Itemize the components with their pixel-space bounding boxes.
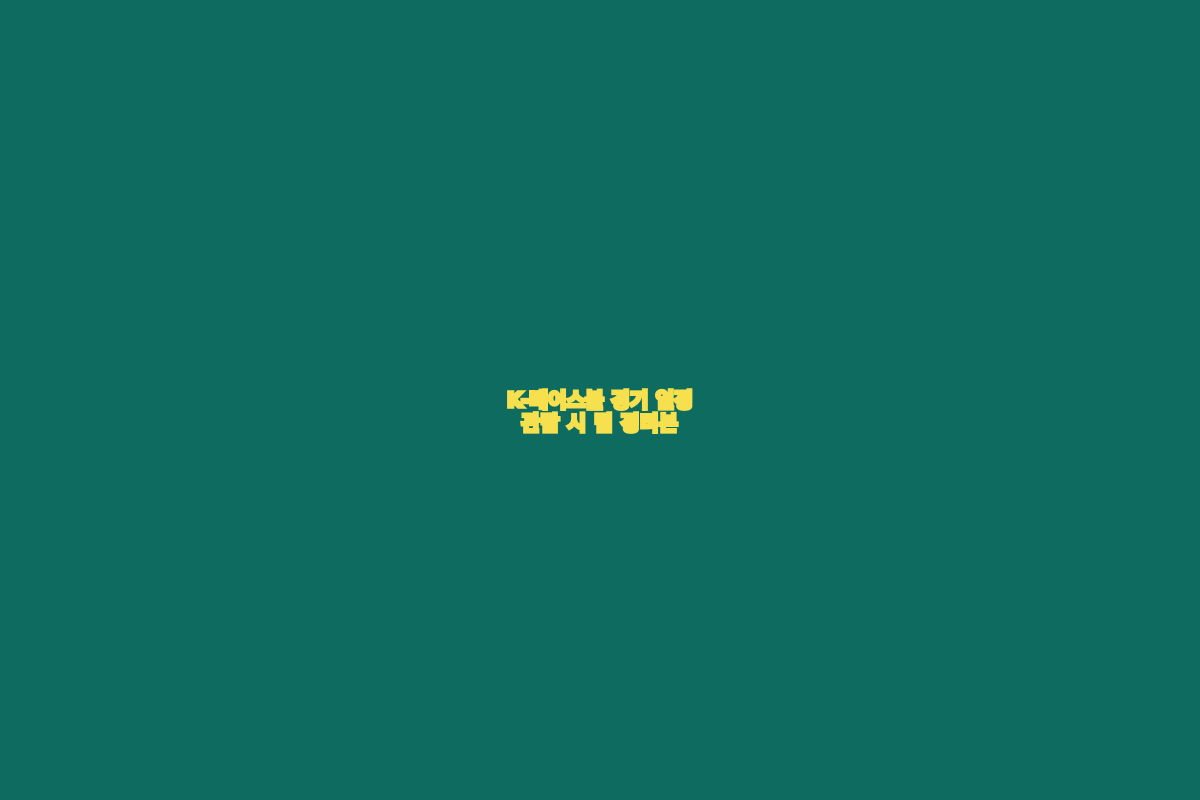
poster-canvas: K-베이스볼 경기 일정 관람 시 팁 정리본 [0,0,1200,800]
title-line-1: K-베이스볼 경기 일정 [40,389,1160,412]
title-block: K-베이스볼 경기 일정 관람 시 팁 정리본 [0,389,1200,436]
title-line-2: 관람 시 팁 정리본 [40,412,1160,435]
